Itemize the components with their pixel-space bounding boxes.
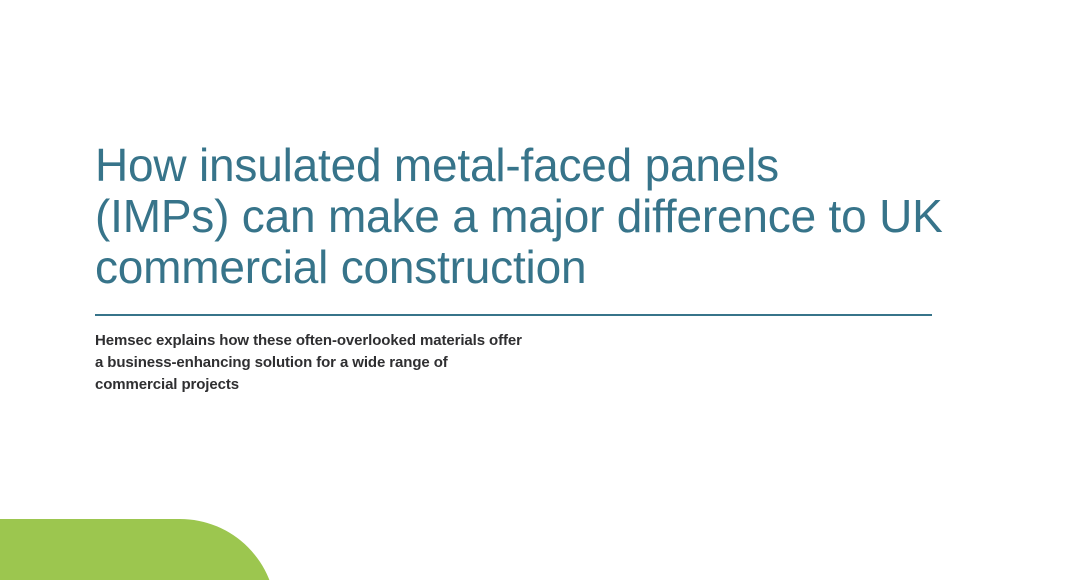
title-slide: How insulated metal-faced panels (IMPs) …: [0, 0, 1068, 580]
page-title: How insulated metal-faced panels (IMPs) …: [95, 140, 955, 293]
page-subtitle: Hemsec explains how these often-overlook…: [95, 316, 695, 396]
green-rounded-shape-decoration: [0, 519, 276, 580]
title-content-block: How insulated metal-faced panels (IMPs) …: [95, 140, 955, 396]
